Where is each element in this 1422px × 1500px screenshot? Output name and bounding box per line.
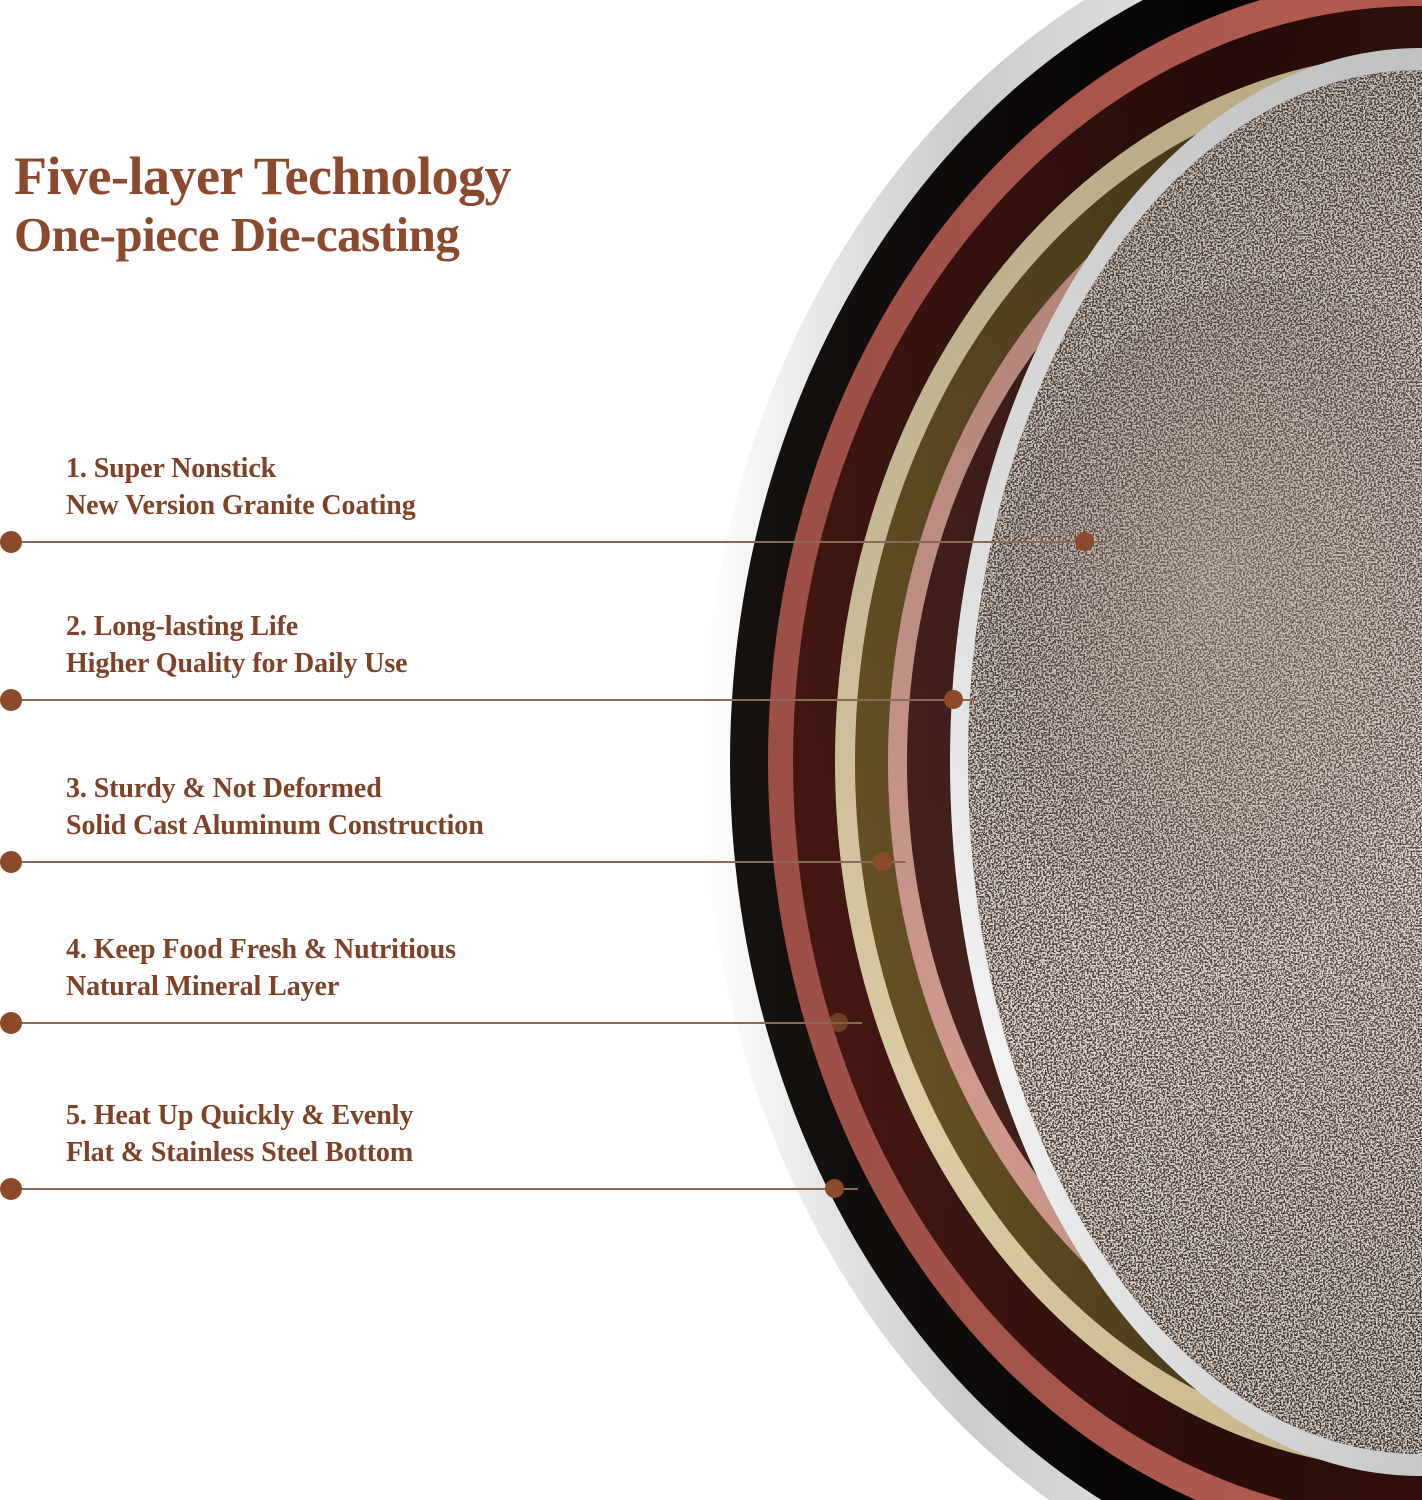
heading-block: Five-layer Technology One-piece Die-cast… bbox=[14, 148, 714, 261]
callout-dot-end-5 bbox=[825, 1179, 844, 1198]
callout-dot-start-2 bbox=[0, 689, 22, 711]
ring-black-body bbox=[730, 0, 1422, 1500]
ring-olive-bronze-layer bbox=[855, 78, 1422, 1446]
callout-dot-end-4 bbox=[829, 1013, 848, 1032]
callout-dot-start-5 bbox=[0, 1178, 22, 1200]
ring-outer-stainless-rim bbox=[702, 0, 1422, 1500]
leader-line-4 bbox=[22, 1022, 862, 1024]
callout-text-5: 5. Heat Up Quickly & Evenly Flat & Stain… bbox=[66, 1098, 826, 1172]
leader-line-5 bbox=[22, 1188, 858, 1190]
callout-text-3: 3. Sturdy & Not Deformed Solid Cast Alum… bbox=[66, 771, 826, 845]
callout-subtitle-1: New Version Granite Coating bbox=[66, 488, 826, 525]
callout-title-2: 2. Long-lasting Life bbox=[66, 609, 826, 646]
callout-title-3: 3. Sturdy & Not Deformed bbox=[66, 771, 826, 808]
layer-shading bbox=[793, 6, 1422, 1500]
callout-title-4: 4. Keep Food Fresh & Nutritious bbox=[66, 932, 826, 969]
ring-granite-interior bbox=[968, 70, 1422, 1454]
pan-layer-stack bbox=[702, 0, 1422, 1500]
leader-line-2 bbox=[22, 699, 977, 701]
callout-subtitle-5: Flat & Stainless Steel Bottom bbox=[66, 1135, 826, 1172]
ring-cream-mineral-layer bbox=[835, 54, 1422, 1470]
leader-line-1 bbox=[22, 541, 1108, 543]
callout-text-2: 2. Long-lasting Life Higher Quality for … bbox=[66, 609, 826, 683]
ring-salmon-layer bbox=[888, 116, 1422, 1408]
granite-texture bbox=[940, 50, 1422, 1480]
callout-dot-start-1 bbox=[0, 531, 22, 553]
callout-dot-start-3 bbox=[0, 851, 22, 873]
page-subtitle: One-piece Die-casting bbox=[14, 209, 714, 261]
callout-title-5: 5. Heat Up Quickly & Evenly bbox=[66, 1098, 826, 1135]
ring-dark-maroon-layer bbox=[793, 6, 1422, 1500]
callout-text-1: 1. Super Nonstick New Version Granite Co… bbox=[66, 451, 826, 525]
callout-dot-end-2 bbox=[944, 690, 963, 709]
ring-dark-brown-layer bbox=[907, 140, 1422, 1384]
leader-line-3 bbox=[22, 861, 906, 863]
callout-subtitle-3: Solid Cast Aluminum Construction bbox=[66, 808, 826, 845]
callout-title-1: 1. Super Nonstick bbox=[66, 451, 826, 488]
callout-subtitle-4: Natural Mineral Layer bbox=[66, 969, 826, 1006]
callout-subtitle-2: Higher Quality for Daily Use bbox=[66, 646, 826, 683]
ring-inner-steel-ring bbox=[950, 48, 1422, 1476]
callout-dot-start-4 bbox=[0, 1012, 22, 1034]
page-title: Five-layer Technology bbox=[14, 148, 714, 205]
callout-text-4: 4. Keep Food Fresh & Nutritious Natural … bbox=[66, 932, 826, 1006]
ring-terracotta-layer bbox=[768, 0, 1422, 1500]
callout-dot-end-3 bbox=[873, 852, 892, 871]
callout-dot-end-1 bbox=[1075, 532, 1094, 551]
